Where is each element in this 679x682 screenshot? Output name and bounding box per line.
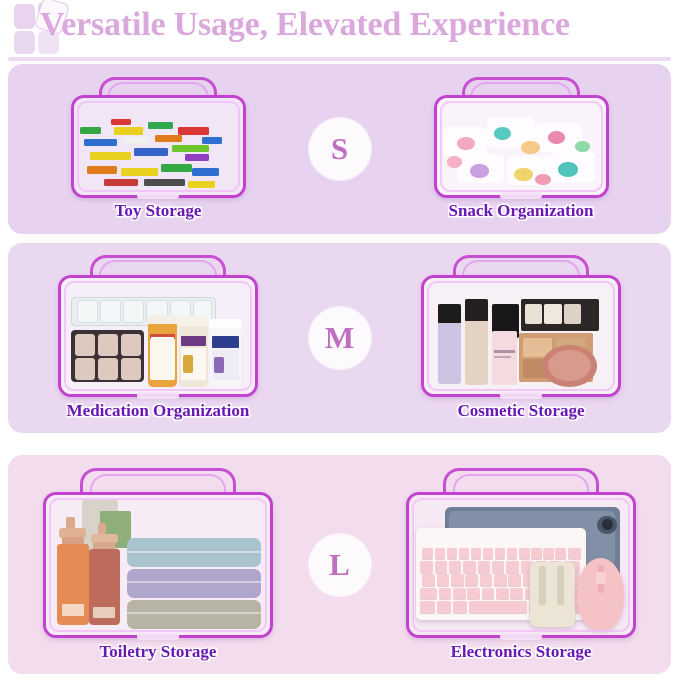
usage-caption: Cosmetic Storage bbox=[458, 401, 585, 421]
storage-bag-toiletry bbox=[43, 468, 273, 636]
usage-caption: Medication Organization bbox=[67, 401, 250, 421]
header: Versatile Usage, Elevated Experience bbox=[0, 0, 679, 60]
storage-bag-toy bbox=[71, 77, 246, 195]
storage-bag-snack bbox=[434, 77, 609, 195]
bag-body bbox=[421, 275, 621, 397]
bag-body bbox=[71, 95, 246, 198]
usage-row-small: Toy Storage S bbox=[8, 64, 671, 234]
bag-zipper-pull bbox=[137, 192, 179, 199]
usage-caption: Snack Organization bbox=[449, 201, 594, 221]
storage-bag-electronics bbox=[406, 468, 636, 636]
header-divider bbox=[8, 57, 671, 61]
usage-card-toy-storage: Toy Storage bbox=[8, 77, 308, 221]
usage-card-toiletry-storage: Toiletry Storage bbox=[8, 468, 308, 662]
bag-zipper-pull bbox=[137, 633, 179, 640]
usage-card-snack-organization: Snack Organization bbox=[371, 77, 671, 221]
usage-caption: Toy Storage bbox=[115, 201, 202, 221]
bag-body bbox=[406, 492, 636, 638]
bag-contents-cosmetics bbox=[424, 278, 618, 394]
size-badge-s: S bbox=[309, 118, 371, 180]
bag-zipper-pull bbox=[500, 192, 542, 199]
bag-contents-toiletries bbox=[46, 495, 270, 635]
bag-contents-pill-organizer bbox=[61, 278, 255, 394]
bag-contents-building-blocks bbox=[74, 98, 243, 195]
bag-contents-wrapped-candies bbox=[437, 98, 606, 195]
usage-card-electronics-storage: Electronics Storage bbox=[371, 468, 671, 662]
usage-row-medium: Medication Organization M bbox=[8, 243, 671, 433]
bag-zipper-pull bbox=[137, 392, 179, 399]
usage-row-large: Toiletry Storage L bbox=[8, 455, 671, 674]
usage-card-cosmetic-storage: Cosmetic Storage bbox=[371, 255, 671, 421]
usage-card-medication-organization: Medication Organization bbox=[8, 255, 308, 421]
page-title: Versatile Usage, Elevated Experience bbox=[40, 6, 570, 44]
storage-bag-medication bbox=[58, 255, 258, 395]
size-badge-m: M bbox=[309, 307, 371, 369]
bag-body bbox=[58, 275, 258, 397]
bag-body bbox=[43, 492, 273, 638]
bag-zipper-pull bbox=[500, 392, 542, 399]
usage-caption: Toiletry Storage bbox=[100, 642, 217, 662]
bag-zipper-pull bbox=[500, 633, 542, 640]
bag-body bbox=[434, 95, 609, 198]
storage-bag-cosmetic bbox=[421, 255, 621, 395]
infographic-page: Versatile Usage, Elevated Experience bbox=[0, 0, 679, 682]
usage-caption: Electronics Storage bbox=[451, 642, 592, 662]
size-badge-l: L bbox=[309, 534, 371, 596]
bag-contents-electronics bbox=[409, 495, 633, 635]
